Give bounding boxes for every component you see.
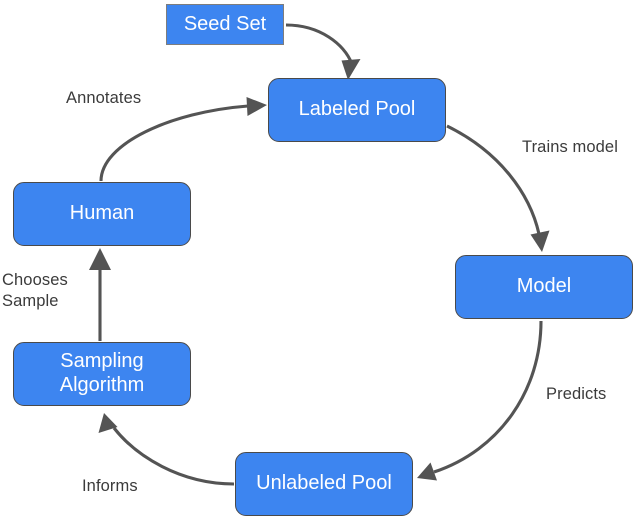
edge-seed-to-labeled	[286, 25, 361, 80]
edge-unlabeled-to-sampling	[99, 413, 235, 484]
diagram-canvas: Seed Set Labeled Pool Model Unlabeled Po…	[0, 0, 640, 519]
edge-human-to-labeled	[101, 97, 267, 181]
edge-model-to-unlabeled	[417, 321, 541, 481]
node-labeled-pool[interactable]: Labeled Pool	[268, 78, 446, 142]
edge-label-trains-model: Trains model	[522, 137, 618, 158]
edge-sampling-to-human	[89, 248, 111, 341]
node-model[interactable]: Model	[455, 255, 633, 319]
node-sampling-algorithm[interactable]: Sampling Algorithm	[13, 342, 191, 406]
edge-label-predicts: Predicts	[546, 384, 606, 405]
edge-label-annotates: Annotates	[66, 88, 141, 109]
edge-label-informs: Informs	[82, 476, 138, 497]
node-seed-set[interactable]: Seed Set	[166, 4, 284, 45]
node-human[interactable]: Human	[13, 182, 191, 246]
node-unlabeled-pool[interactable]: Unlabeled Pool	[235, 452, 413, 516]
edge-label-chooses-sample: Chooses Sample	[2, 270, 68, 312]
